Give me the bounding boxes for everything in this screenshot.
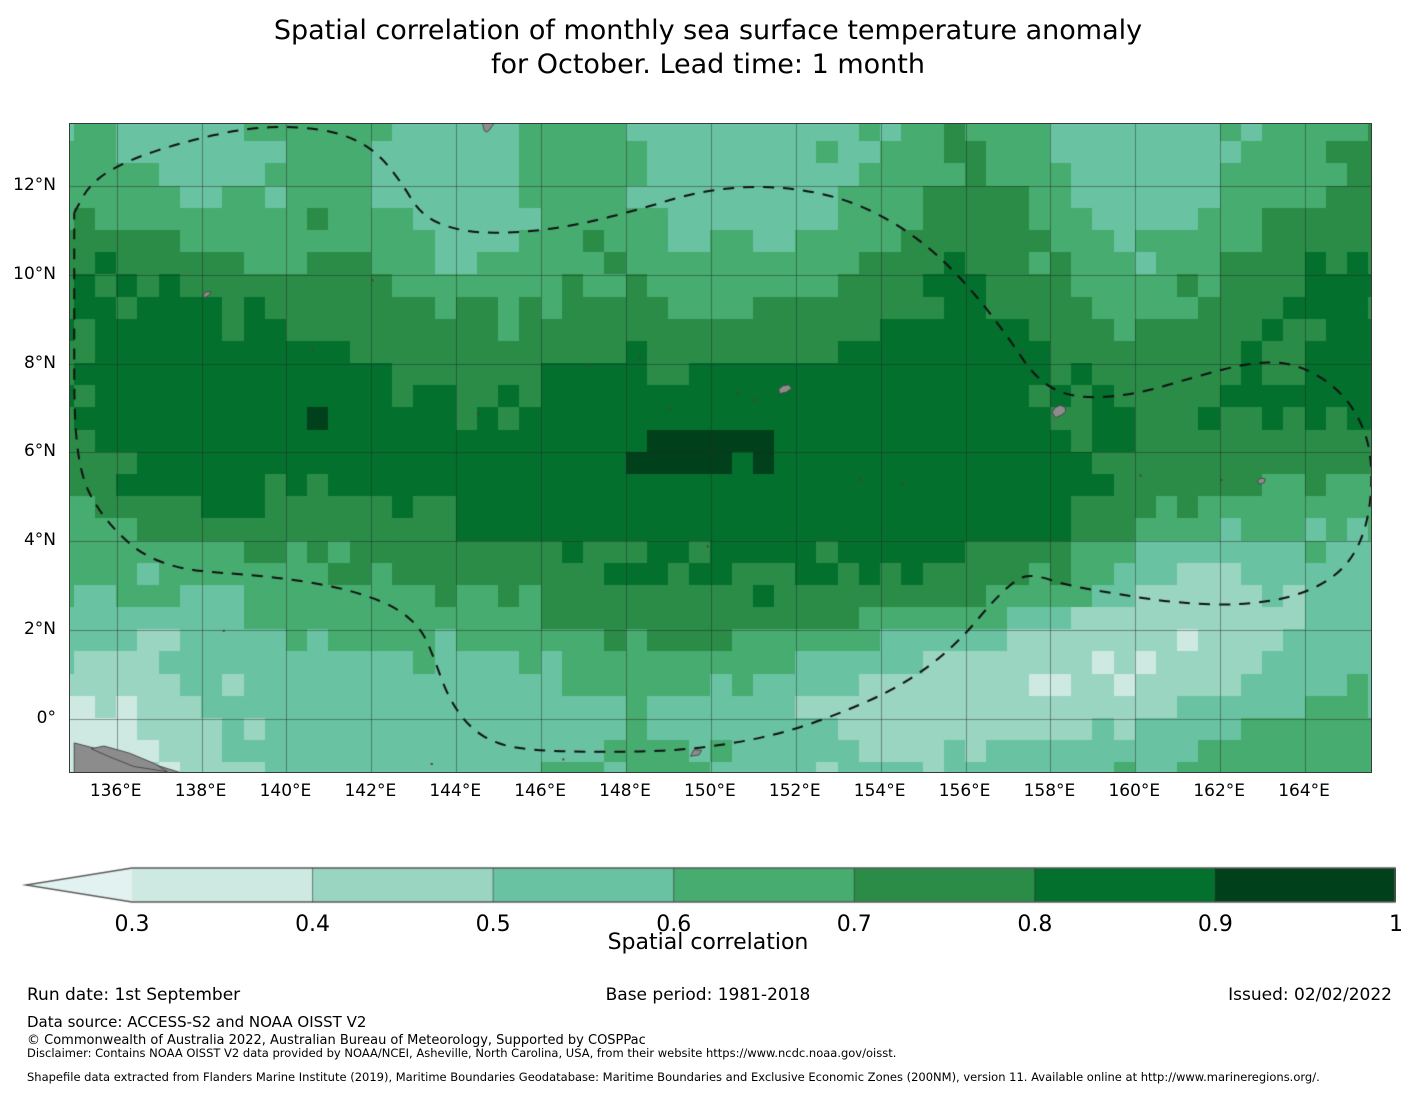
- x-tick-label: 142°E: [344, 781, 396, 801]
- figure-root: Spatial correlation of monthly sea surfa…: [0, 0, 1416, 1095]
- colorbar-canvas: [20, 866, 1396, 912]
- colorbar: [20, 866, 1396, 912]
- y-tick-label: 6°N: [24, 441, 56, 461]
- x-tick-label: 162°E: [1193, 781, 1245, 801]
- x-tick-label: 154°E: [854, 781, 906, 801]
- x-tick-label: 146°E: [514, 781, 566, 801]
- page-title: Spatial correlation of monthly sea surfa…: [0, 14, 1416, 82]
- footer-row: Run date: 1st September Base period: 198…: [0, 985, 1416, 1007]
- y-tick-label: 0°: [37, 708, 56, 728]
- x-tick-label: 148°E: [599, 781, 651, 801]
- disclaimer-text: Disclaimer: Contains NOAA OISST V2 data …: [27, 1046, 896, 1060]
- y-tick-label: 12°N: [13, 175, 56, 195]
- title-line-2: for October. Lead time: 1 month: [0, 48, 1416, 82]
- x-tick-label: 144°E: [429, 781, 481, 801]
- data-source: Data source: ACCESS-S2 and NOAA OISST V2: [27, 1013, 366, 1031]
- x-tick-label: 140°E: [260, 781, 312, 801]
- x-tick-label: 138°E: [175, 781, 227, 801]
- shapefile-credit: Shapefile data extracted from Flanders M…: [27, 1070, 1320, 1084]
- colorbar-label: Spatial correlation: [0, 930, 1416, 955]
- y-tick-label: 10°N: [13, 264, 56, 284]
- y-tick-label: 2°N: [24, 619, 56, 639]
- x-tick-label: 152°E: [769, 781, 821, 801]
- y-tick-label: 8°N: [24, 353, 56, 373]
- x-tick-label: 156°E: [939, 781, 991, 801]
- x-tick-label: 150°E: [684, 781, 736, 801]
- x-tick-label: 158°E: [1024, 781, 1076, 801]
- y-tick-label: 4°N: [24, 530, 56, 550]
- base-period: Base period: 1981-2018: [0, 985, 1416, 1005]
- x-tick-label: 164°E: [1278, 781, 1330, 801]
- map-overlay-canvas: [70, 124, 1372, 773]
- issued-date: Issued: 02/02/2022: [1228, 985, 1392, 1005]
- x-tick-label: 136°E: [90, 781, 142, 801]
- map-plot-area: [69, 123, 1372, 773]
- x-axis-labels: 136°E138°E140°E142°E144°E146°E148°E150°E…: [69, 779, 1372, 809]
- title-line-1: Spatial correlation of monthly sea surfa…: [0, 14, 1416, 48]
- y-axis-labels: 12°N10°N8°N6°N4°N2°N0°: [0, 123, 62, 773]
- x-tick-label: 160°E: [1108, 781, 1160, 801]
